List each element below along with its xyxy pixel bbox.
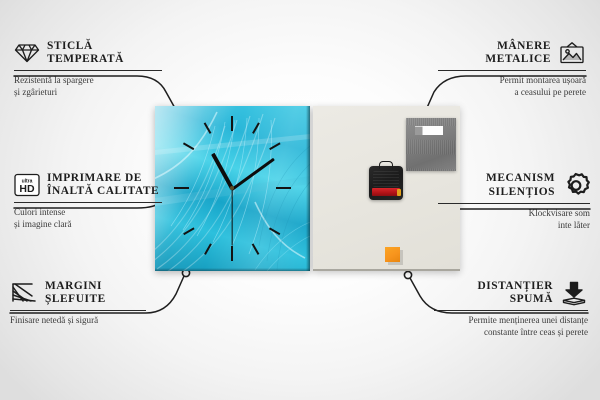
glass-bottom-edge	[155, 268, 310, 271]
feature-divider	[10, 310, 146, 311]
ultra-hd-icon: ultra HD	[14, 173, 40, 197]
diamond-icon	[14, 42, 40, 64]
feature-subtitle-line: inte låter	[438, 219, 590, 231]
tick-mark	[252, 243, 259, 254]
tick-mark	[204, 243, 211, 254]
feature-metal-handles: MÂNERE METALICE Permit montarea ușoară a…	[438, 40, 586, 98]
feature-subtitle-line: și imagine clară	[14, 218, 162, 230]
feature-subtitle-line: constante între ceas și perete	[434, 326, 588, 338]
feature-subtitle-line: Klockvisare som	[438, 207, 590, 219]
product-image	[155, 106, 460, 271]
feature-subtitle-line: Rezistentă la spargere	[14, 74, 162, 86]
tick-mark	[269, 142, 280, 149]
feature-title-line: ȘLEFUITE	[45, 293, 106, 306]
dial-center-cap	[230, 186, 234, 190]
feature-title-line: STICLĂ	[47, 40, 124, 53]
feature-title-line: DISTANȚIER	[477, 280, 553, 293]
feature-title-line: MÂNERE	[485, 40, 551, 53]
feature-tempered-glass: STICLĂ TEMPERATĂ Rezistentă la spargere …	[14, 40, 162, 98]
battery	[372, 188, 400, 196]
feature-polished-edges: MARGINI ȘLEFUITE Finisare netedă și sigu…	[10, 280, 146, 326]
tick-mark	[183, 227, 194, 234]
tick-mark	[174, 187, 189, 189]
feature-title-line: METALICE	[485, 53, 551, 66]
tick-mark	[269, 227, 280, 234]
arrow-down-pad-icon	[560, 281, 588, 306]
tick-mark	[204, 122, 211, 133]
feature-divider	[438, 70, 586, 71]
tick-mark	[183, 142, 194, 149]
feature-title-line: MARGINI	[45, 280, 106, 293]
feature-title-line: TEMPERATĂ	[47, 53, 124, 66]
feature-divider	[14, 70, 162, 71]
hatched-edge-icon	[10, 282, 38, 304]
feature-title-line: SILENȚIOS	[486, 186, 555, 199]
feature-high-quality-print: ultra HD IMPRIMARE DE ÎNALTĂ CALITATE Cu…	[14, 172, 162, 230]
feature-subtitle-line: Culori intense	[14, 206, 162, 218]
movement-housing-detail	[373, 171, 399, 187]
tick-mark	[231, 246, 233, 261]
feature-divider	[14, 202, 162, 203]
foam-spacer	[385, 247, 400, 262]
clock-front-panel	[155, 106, 310, 271]
feature-title-line: MECANISM	[486, 172, 555, 185]
hour-hand	[211, 153, 234, 190]
tick-mark	[276, 187, 291, 189]
gear-icon	[562, 172, 590, 199]
feature-silent-mechanism: MECANISM SILENȚIOS Klockvisare som inte …	[438, 172, 590, 231]
movement-hanger-loop	[379, 161, 393, 169]
second-hand	[231, 189, 232, 246]
clock-dial	[155, 106, 310, 271]
ultra-hd-icon-main-text: HD	[19, 183, 35, 195]
feature-divider	[434, 310, 588, 311]
clock-movement	[369, 166, 403, 200]
feature-subtitle-line: Finisare netedă și sigură	[10, 314, 146, 326]
minute-hand	[231, 157, 275, 190]
hanger-keyhole-slot	[415, 126, 443, 135]
feature-subtitle-line: Permite menținerea unei distanțe	[434, 314, 588, 326]
feature-title-line: SPUMĂ	[477, 293, 553, 306]
battery-terminal	[397, 189, 401, 196]
tick-mark	[231, 116, 233, 131]
tick-mark	[252, 122, 259, 133]
feature-subtitle-line: și zgârieturi	[14, 86, 162, 98]
feature-title-line: IMPRIMARE DE	[47, 172, 159, 185]
feature-divider	[438, 203, 590, 204]
feature-foam-spacer: DISTANȚIER SPUMĂ Permite menținerea unei…	[434, 280, 588, 338]
metal-hanger-plate	[406, 118, 456, 171]
feature-title-line: ÎNALTĂ CALITATE	[47, 185, 159, 198]
feature-subtitle-line: Permit montarea ușoară	[438, 74, 586, 86]
feature-subtitle-line: a ceasului pe perete	[438, 86, 586, 98]
back-panel-bottom-edge	[313, 269, 460, 271]
picture-hanger-icon	[558, 41, 586, 65]
leader-endpoint-foam-spacer	[404, 271, 411, 278]
infographic-canvas: STICLĂ TEMPERATĂ Rezistentă la spargere …	[0, 0, 600, 400]
glass-right-edge	[306, 106, 310, 271]
